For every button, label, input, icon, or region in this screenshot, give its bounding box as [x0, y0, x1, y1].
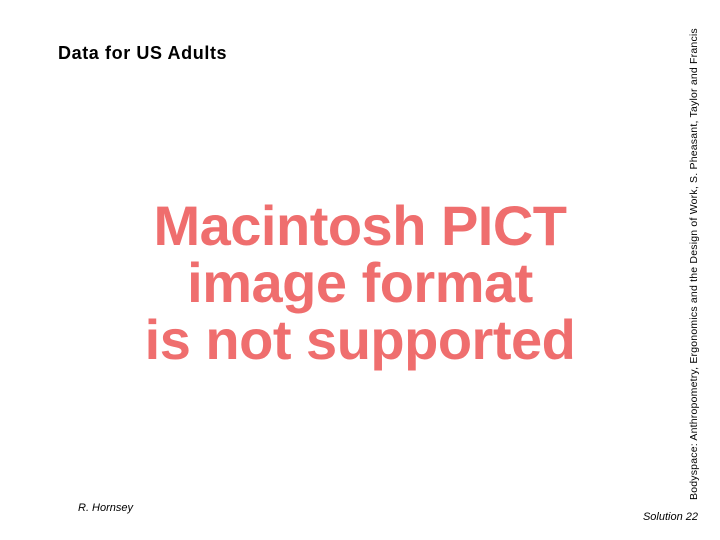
source-caption-vertical: Bodyspace: Anthropometry, Ergonomics and…: [688, 100, 704, 500]
author-label: R. Hornsey: [78, 502, 133, 514]
slide-footer-label: Solution 22: [643, 511, 698, 523]
placeholder-line-3: is not supported: [145, 311, 576, 368]
slide: Data for US Adults Macintosh PICT image …: [0, 0, 720, 540]
placeholder-line-2: image format: [187, 254, 533, 311]
pict-image-placeholder: Macintosh PICT image format is not suppo…: [150, 160, 570, 405]
page-title: Data for US Adults: [58, 43, 227, 64]
placeholder-line-1: Macintosh PICT: [153, 197, 566, 254]
